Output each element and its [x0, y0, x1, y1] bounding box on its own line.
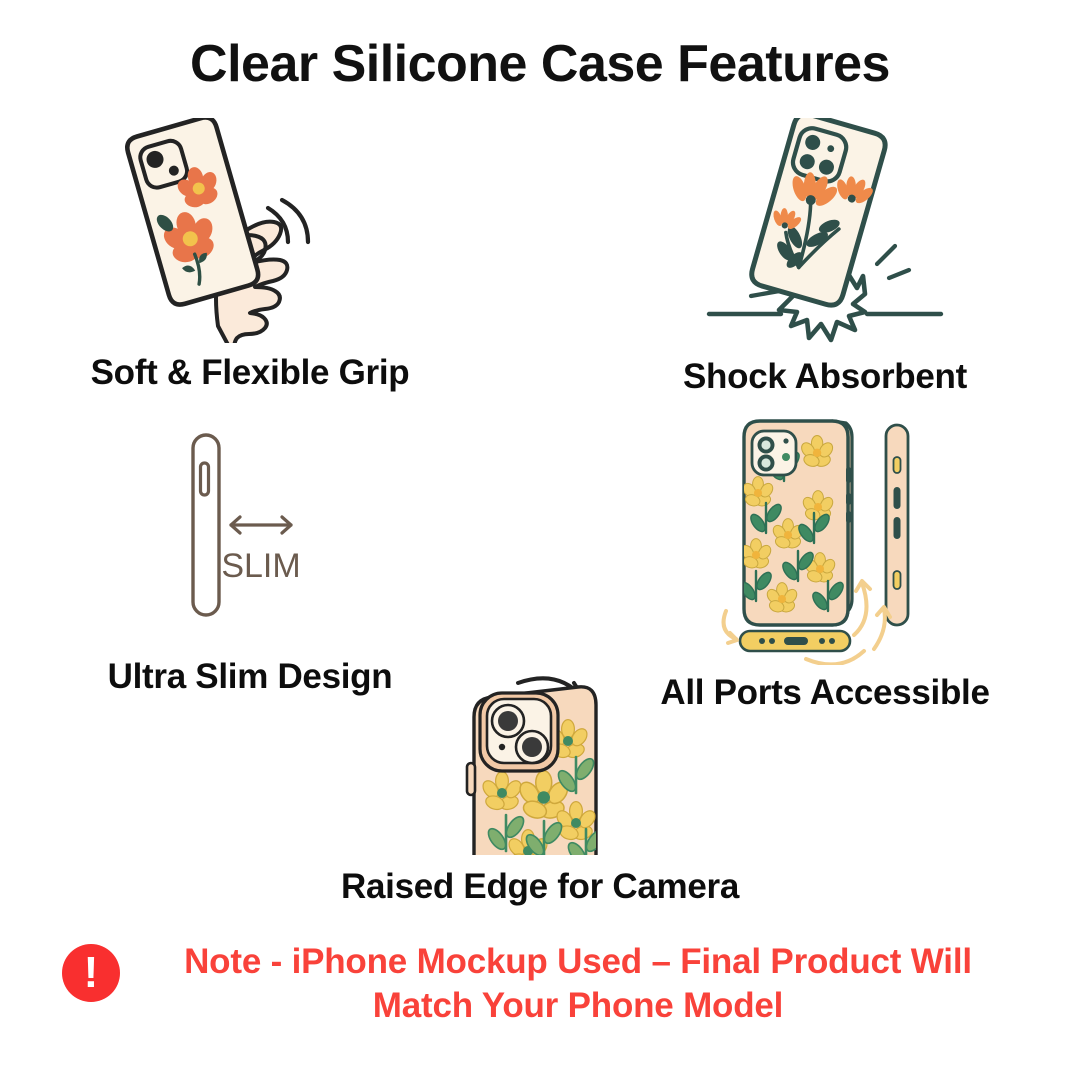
phone-drop-impact-icon — [695, 118, 955, 343]
exclamation-icon: ! — [62, 944, 120, 1002]
phone-ports-cutouts-icon — [710, 415, 940, 665]
disclaimer-note: ! Note - iPhone Mockup Used – Final Prod… — [0, 940, 1080, 1028]
feature-label: Shock Absorbent — [615, 357, 1035, 397]
feature-shock-absorbent: Shock Absorbent — [615, 118, 1035, 397]
feature-label: Raised Edge for Camera — [290, 867, 790, 907]
disclaimer-text: Note - iPhone Mockup Used – Final Produc… — [138, 940, 1018, 1028]
hand-flexing-phone-case-icon — [100, 118, 400, 343]
feature-soft-flexible-grip: Soft & Flexible Grip — [30, 118, 470, 393]
feature-label: Soft & Flexible Grip — [30, 353, 470, 393]
phone-side-profile-icon: SLIM — [155, 425, 345, 625]
feature-raised-edge-for-camera: Raised Edge for Camera — [290, 665, 790, 907]
feature-ultra-slim-design: SLIM Ultra Slim Design — [40, 425, 460, 697]
illustration-wrap — [610, 415, 1040, 665]
page-title: Clear Silicone Case Features — [0, 34, 1080, 94]
raised-camera-bump-icon — [440, 665, 640, 855]
illustration-wrap: SLIM — [40, 425, 460, 625]
illustration-wrap — [30, 118, 470, 343]
illustration-wrap — [290, 665, 790, 855]
illustration-wrap — [615, 118, 1035, 343]
infographic-page: Clear Silicone Case Features — [0, 0, 1080, 1080]
slim-annotation-text: SLIM — [221, 547, 300, 585]
